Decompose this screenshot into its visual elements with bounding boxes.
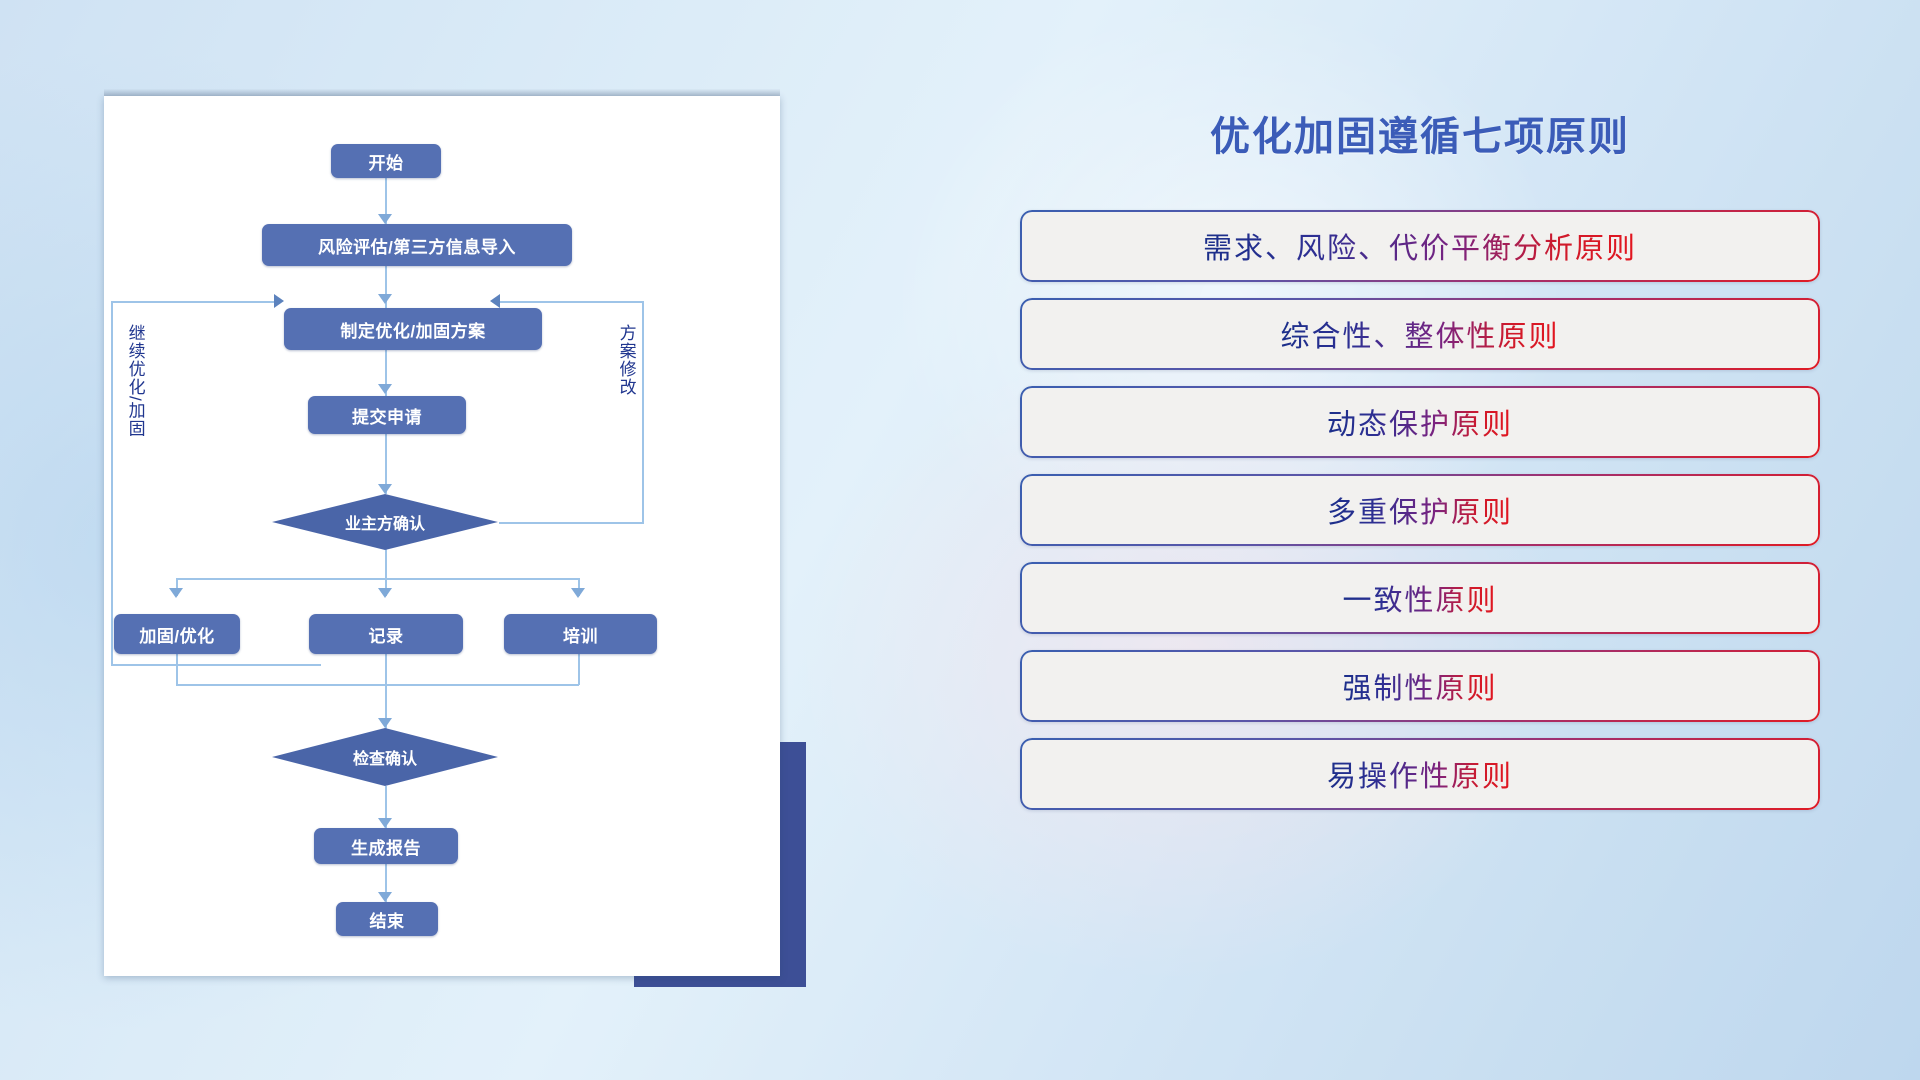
flow-node-reinforce-label: 加固/优化 xyxy=(139,622,214,647)
connector-left-loop-bottom xyxy=(111,664,321,666)
connector-left-loop-vertical xyxy=(111,301,113,666)
arrowhead-reinforce xyxy=(169,588,183,598)
flow-node-submit[interactable]: 提交申请 xyxy=(308,396,466,434)
connector-left-loop-top xyxy=(111,301,278,303)
arrowhead-plan xyxy=(378,294,392,304)
document-page: 开始 风险评估/第三方信息导入 制定优化/加固方案 提交申请 业主方确认 加固/… xyxy=(104,96,780,976)
principle-card[interactable]: 一致性原则 xyxy=(1020,562,1820,634)
connector-training-down xyxy=(578,653,580,685)
edge-label-plan-revision: 方案修改 xyxy=(617,324,635,396)
flow-node-record[interactable]: 记录 xyxy=(309,614,463,654)
arrowhead-record xyxy=(378,588,392,598)
connector-reinforce-down xyxy=(176,653,178,685)
flow-node-training-label: 培训 xyxy=(563,622,598,647)
flow-node-owner-confirm-label: 业主方确认 xyxy=(345,510,425,534)
flow-node-start-label: 开始 xyxy=(369,149,404,174)
principle-card[interactable]: 强制性原则 xyxy=(1020,650,1820,722)
document-top-edge xyxy=(104,89,780,96)
edge-label-continue-loop: 继续优化/加固 xyxy=(126,324,144,438)
flow-node-record-label: 记录 xyxy=(369,622,404,647)
connector-right-loop-from-confirm xyxy=(499,522,644,524)
arrowhead-check-confirm xyxy=(378,718,392,728)
principle-card-label: 强制性原则 xyxy=(1342,665,1497,707)
flow-node-end-label: 结束 xyxy=(370,907,405,932)
principle-card-label: 易操作性原则 xyxy=(1327,753,1513,795)
flow-node-generate-report[interactable]: 生成报告 xyxy=(314,828,458,864)
flow-node-check-confirm-label: 检查确认 xyxy=(353,745,417,769)
flow-node-plan[interactable]: 制定优化/加固方案 xyxy=(284,308,542,350)
flow-node-submit-label: 提交申请 xyxy=(352,403,422,428)
flow-node-check-confirm[interactable]: 检查确认 xyxy=(272,728,498,786)
flow-node-training[interactable]: 培训 xyxy=(504,614,657,654)
flow-node-start[interactable]: 开始 xyxy=(331,144,441,178)
principle-card[interactable]: 动态保护原则 xyxy=(1020,386,1820,458)
principle-card[interactable]: 易操作性原则 xyxy=(1020,738,1820,810)
principle-card-label: 一致性原则 xyxy=(1342,577,1497,619)
principle-card-label: 需求、风险、代价平衡分析原则 xyxy=(1203,225,1637,267)
connector-merge-bus xyxy=(176,684,579,686)
connector-right-loop-top xyxy=(498,301,644,303)
page-title: 优化加固遵循七项原则 xyxy=(1020,104,1820,162)
arrowhead-right-loop-into-plan xyxy=(490,294,500,308)
flow-node-end[interactable]: 结束 xyxy=(336,902,438,936)
flow-node-plan-label: 制定优化/加固方案 xyxy=(340,317,485,342)
connector-right-loop-vertical xyxy=(642,301,644,523)
flow-node-risk-assessment-label: 风险评估/第三方信息导入 xyxy=(318,233,516,258)
arrowhead-left-loop-into-plan xyxy=(274,294,284,308)
flow-node-owner-confirm[interactable]: 业主方确认 xyxy=(272,494,498,550)
connector-confirm-to-bus xyxy=(385,548,387,578)
principles-list: 需求、风险、代价平衡分析原则综合性、整体性原则动态保护原则多重保护原则一致性原则… xyxy=(1020,210,1820,810)
principle-card-label: 综合性、整体性原则 xyxy=(1280,313,1559,355)
principle-card-label: 多重保护原则 xyxy=(1327,489,1513,531)
principle-card[interactable]: 需求、风险、代价平衡分析原则 xyxy=(1020,210,1820,282)
connector-branch-bus xyxy=(176,578,579,580)
arrowhead-owner-confirm xyxy=(378,484,392,494)
principle-card-label: 动态保护原则 xyxy=(1327,401,1513,443)
arrowhead-training xyxy=(571,588,585,598)
principle-card[interactable]: 多重保护原则 xyxy=(1020,474,1820,546)
flow-node-risk-assessment[interactable]: 风险评估/第三方信息导入 xyxy=(262,224,572,266)
flow-node-generate-report-label: 生成报告 xyxy=(351,834,421,859)
flow-node-reinforce[interactable]: 加固/优化 xyxy=(114,614,240,654)
arrowhead-generate-report xyxy=(378,818,392,828)
arrowhead-submit xyxy=(378,384,392,394)
arrowhead-risk xyxy=(378,214,392,224)
principles-panel: 优化加固遵循七项原则 需求、风险、代价平衡分析原则综合性、整体性原则动态保护原则… xyxy=(1020,104,1820,826)
arrowhead-end xyxy=(378,892,392,902)
principle-card[interactable]: 综合性、整体性原则 xyxy=(1020,298,1820,370)
